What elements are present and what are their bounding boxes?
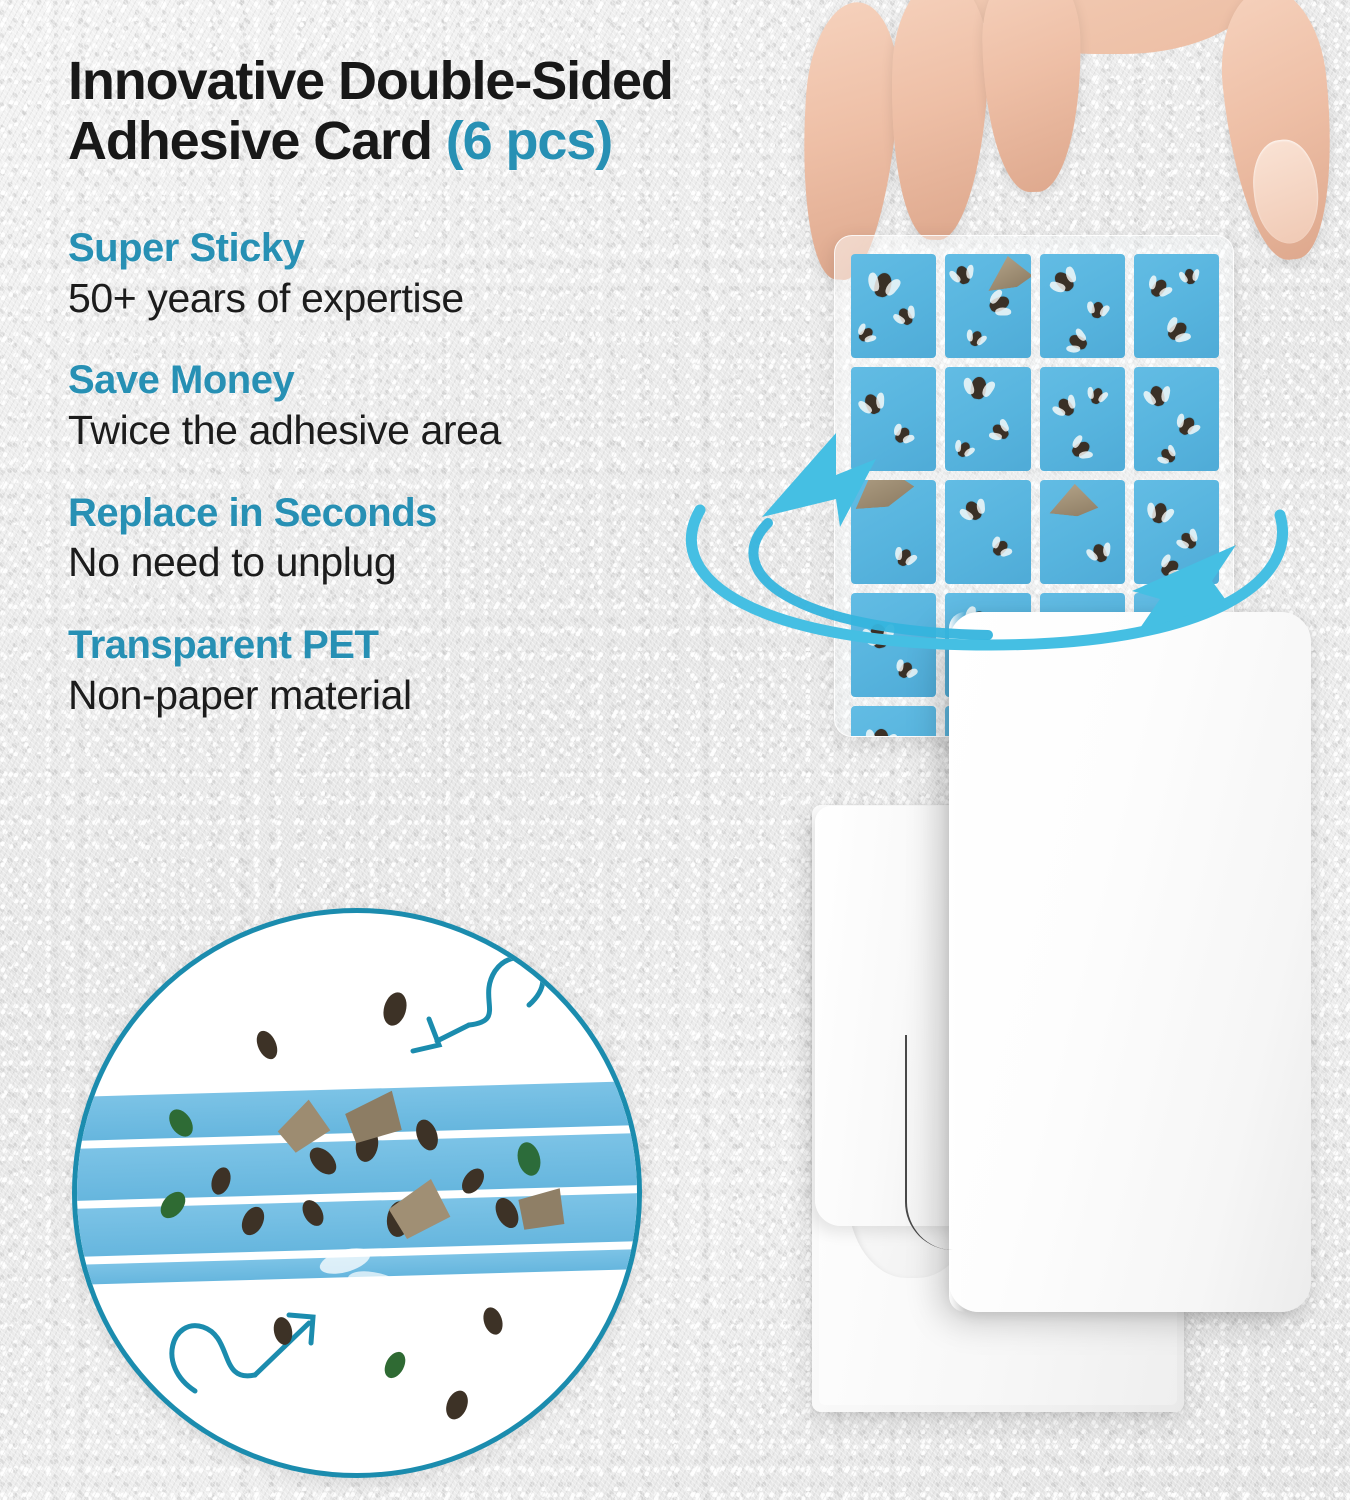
sticky-square	[851, 367, 936, 471]
inset-graphics	[77, 913, 637, 1473]
finger	[886, 0, 991, 242]
curly-arrow-up-icon	[172, 1315, 313, 1391]
sticky-square	[851, 593, 936, 697]
feature-item: Save Money Twice the adhesive area	[68, 358, 708, 454]
headline-line-2: Adhesive Card	[68, 111, 446, 171]
curly-arrow-down-icon	[413, 958, 543, 1051]
feature-subtitle: 50+ years of expertise	[68, 275, 708, 323]
sticky-square	[945, 367, 1030, 471]
sticky-square	[851, 706, 936, 737]
feature-title: Super Sticky	[68, 226, 708, 271]
sticky-square	[1134, 367, 1219, 471]
device-seam-line	[905, 1035, 953, 1250]
sticky-square	[851, 254, 936, 358]
trapped-moth	[853, 480, 916, 509]
magnified-closeup-inset	[72, 908, 642, 1478]
feature-subtitle: Twice the adhesive area	[68, 407, 708, 455]
feature-title: Replace in Seconds	[68, 491, 708, 536]
feature-title: Transparent PET	[68, 623, 708, 668]
marketing-copy-column: Innovative Double-Sided Adhesive Card (6…	[68, 52, 708, 719]
sticky-square	[1134, 254, 1219, 358]
fingernail	[1249, 137, 1324, 247]
feature-subtitle: Non-paper material	[68, 672, 708, 720]
feature-title: Save Money	[68, 358, 708, 403]
sticky-square	[945, 254, 1030, 358]
finger	[981, 0, 1083, 193]
headline-quantity-badge: (6 pcs)	[446, 111, 612, 171]
sticky-square	[945, 480, 1030, 584]
sticky-square	[1134, 480, 1219, 584]
page-title: Innovative Double-Sided Adhesive Card (6…	[68, 52, 708, 172]
feature-item: Replace in Seconds No need to unplug	[68, 491, 708, 587]
sticky-square	[1040, 480, 1125, 584]
feature-subtitle: No need to unplug	[68, 539, 708, 587]
finger	[1213, 0, 1345, 265]
headline-line-1: Innovative Double-Sided	[68, 51, 673, 111]
plug-in-device-body[interactable]	[949, 612, 1311, 1312]
sticky-square	[1040, 254, 1125, 358]
feature-item: Transparent PET Non-paper material	[68, 623, 708, 719]
feature-item: Super Sticky 50+ years of expertise	[68, 226, 708, 322]
sticky-square	[851, 480, 936, 584]
trapped-moth	[984, 254, 1030, 291]
sticky-square	[1040, 367, 1125, 471]
trapped-moth	[1050, 482, 1101, 519]
insect-cluster	[156, 990, 572, 1423]
